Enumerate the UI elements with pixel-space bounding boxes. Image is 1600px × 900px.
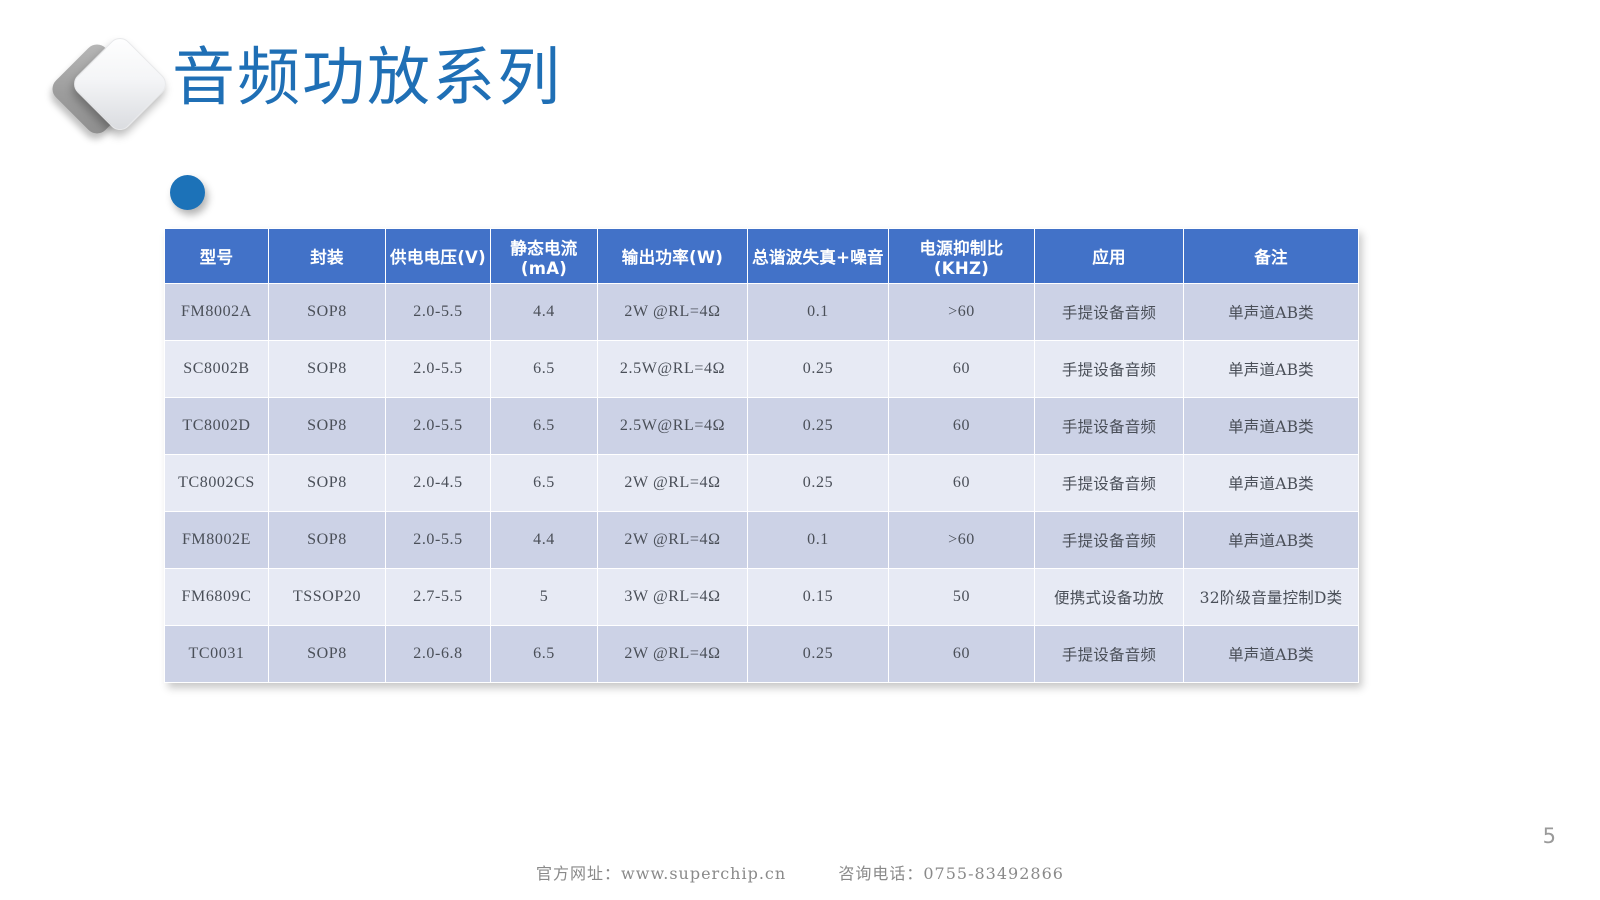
cell-output-power: 2W @RL=4Ω xyxy=(598,626,748,683)
cell-supply-voltage: 2.0-5.5 xyxy=(386,512,491,569)
column-header-supply-voltage: 供电电压(V) xyxy=(386,229,491,284)
cell-package: SOP8 xyxy=(269,284,386,341)
cell-thd-n: 0.1 xyxy=(748,284,889,341)
cell-remark: 单声道AB类 xyxy=(1184,455,1359,512)
column-header-application: 应用 xyxy=(1035,229,1184,284)
cell-package: TSSOP20 xyxy=(269,569,386,626)
cell-quiescent-current: 6.5 xyxy=(491,341,598,398)
page-title: 音频功放系列 xyxy=(172,42,562,114)
table-header-row: 型号 封装 供电电压(V) 静态电流(mA) 输出功率(W) 总谐波失真+噪音 … xyxy=(165,229,1359,284)
cell-package: SOP8 xyxy=(269,626,386,683)
cell-supply-voltage: 2.0-5.5 xyxy=(386,284,491,341)
diamond-logo-icon xyxy=(58,36,166,144)
cell-psrr: 60 xyxy=(889,398,1035,455)
cell-output-power: 2.5W@RL=4Ω xyxy=(598,341,748,398)
table-row: FM6809C TSSOP20 2.7-5.5 5 3W @RL=4Ω 0.15… xyxy=(165,569,1359,626)
cell-thd-n: 0.1 xyxy=(748,512,889,569)
page-number: 5 xyxy=(1543,824,1556,848)
cell-remark: 32阶级音量控制D类 xyxy=(1184,569,1359,626)
cell-model: TC8002CS xyxy=(165,455,269,512)
cell-application: 手提设备音频 xyxy=(1035,512,1184,569)
cell-thd-n: 0.25 xyxy=(748,626,889,683)
cell-model: TC8002D xyxy=(165,398,269,455)
cell-supply-voltage: 2.0-6.8 xyxy=(386,626,491,683)
column-header-output-power: 输出功率(W) xyxy=(598,229,748,284)
cell-psrr: 60 xyxy=(889,455,1035,512)
table-row: TC8002D SOP8 2.0-5.5 6.5 2.5W@RL=4Ω 0.25… xyxy=(165,398,1359,455)
cell-application: 手提设备音频 xyxy=(1035,455,1184,512)
cell-output-power: 2.5W@RL=4Ω xyxy=(598,398,748,455)
cell-psrr: 60 xyxy=(889,626,1035,683)
cell-output-power: 2W @RL=4Ω xyxy=(598,512,748,569)
column-header-psrr: 电源抑制比(KHZ) xyxy=(889,229,1035,284)
cell-application: 便携式设备功放 xyxy=(1035,569,1184,626)
cell-quiescent-current: 6.5 xyxy=(491,398,598,455)
cell-remark: 单声道AB类 xyxy=(1184,341,1359,398)
cell-quiescent-current: 5 xyxy=(491,569,598,626)
cell-model: FM6809C xyxy=(165,569,269,626)
footer-phone: 咨询电话：0755-83492866 xyxy=(838,864,1064,883)
cell-quiescent-current: 4.4 xyxy=(491,512,598,569)
column-header-remark: 备注 xyxy=(1184,229,1359,284)
cell-application: 手提设备音频 xyxy=(1035,284,1184,341)
cell-output-power: 2W @RL=4Ω xyxy=(598,284,748,341)
table-row: FM8002E SOP8 2.0-5.5 4.4 2W @RL=4Ω 0.1 >… xyxy=(165,512,1359,569)
cell-application: 手提设备音频 xyxy=(1035,341,1184,398)
cell-remark: 单声道AB类 xyxy=(1184,398,1359,455)
table-row: TC0031 SOP8 2.0-6.8 6.5 2W @RL=4Ω 0.25 6… xyxy=(165,626,1359,683)
column-header-model: 型号 xyxy=(165,229,269,284)
table-row: FM8002A SOP8 2.0-5.5 4.4 2W @RL=4Ω 0.1 >… xyxy=(165,284,1359,341)
cell-application: 手提设备音频 xyxy=(1035,398,1184,455)
cell-quiescent-current: 4.4 xyxy=(491,284,598,341)
cell-supply-voltage: 2.0-5.5 xyxy=(386,341,491,398)
cell-psrr: >60 xyxy=(889,512,1035,569)
spec-table-container: 型号 封装 供电电压(V) 静态电流(mA) 输出功率(W) 总谐波失真+噪音 … xyxy=(164,228,1358,683)
cell-thd-n: 0.25 xyxy=(748,398,889,455)
cell-remark: 单声道AB类 xyxy=(1184,626,1359,683)
cell-supply-voltage: 2.0-4.5 xyxy=(386,455,491,512)
cell-output-power: 3W @RL=4Ω xyxy=(598,569,748,626)
cell-quiescent-current: 6.5 xyxy=(491,626,598,683)
cell-psrr: 60 xyxy=(889,341,1035,398)
cell-application: 手提设备音频 xyxy=(1035,626,1184,683)
cell-model: FM8002E xyxy=(165,512,269,569)
table-header: 型号 封装 供电电压(V) 静态电流(mA) 输出功率(W) 总谐波失真+噪音 … xyxy=(165,229,1359,284)
cell-remark: 单声道AB类 xyxy=(1184,512,1359,569)
column-header-thd-n: 总谐波失真+噪音 xyxy=(748,229,889,284)
cell-output-power: 2W @RL=4Ω xyxy=(598,455,748,512)
column-header-package: 封装 xyxy=(269,229,386,284)
cell-model: FM8002A xyxy=(165,284,269,341)
cell-supply-voltage: 2.7-5.5 xyxy=(386,569,491,626)
cell-thd-n: 0.15 xyxy=(748,569,889,626)
cell-package: SOP8 xyxy=(269,455,386,512)
cell-remark: 单声道AB类 xyxy=(1184,284,1359,341)
cell-psrr: >60 xyxy=(889,284,1035,341)
table-row: SC8002B SOP8 2.0-5.5 6.5 2.5W@RL=4Ω 0.25… xyxy=(165,341,1359,398)
cell-package: SOP8 xyxy=(269,512,386,569)
footer-website: 官方网址：www.superchip.cn xyxy=(536,864,786,883)
cell-thd-n: 0.25 xyxy=(748,455,889,512)
bullet-dot-marker xyxy=(170,175,205,210)
cell-package: SOP8 xyxy=(269,341,386,398)
cell-model: SC8002B xyxy=(165,341,269,398)
column-header-quiescent-current: 静态电流(mA) xyxy=(491,229,598,284)
slide-root: 音频功放系列 型号 封装 供电电压(V) 静态电流(mA) 输出功率(W) 总谐… xyxy=(0,0,1600,900)
cell-package: SOP8 xyxy=(269,398,386,455)
slide-footer: 官方网址：www.superchip.cn 咨询电话：0755-83492866 xyxy=(0,860,1600,884)
table-row: TC8002CS SOP8 2.0-4.5 6.5 2W @RL=4Ω 0.25… xyxy=(165,455,1359,512)
cell-model: TC0031 xyxy=(165,626,269,683)
cell-thd-n: 0.25 xyxy=(748,341,889,398)
cell-quiescent-current: 6.5 xyxy=(491,455,598,512)
table-body: FM8002A SOP8 2.0-5.5 4.4 2W @RL=4Ω 0.1 >… xyxy=(165,284,1359,683)
spec-table: 型号 封装 供电电压(V) 静态电流(mA) 输出功率(W) 总谐波失真+噪音 … xyxy=(164,228,1359,683)
cell-supply-voltage: 2.0-5.5 xyxy=(386,398,491,455)
cell-psrr: 50 xyxy=(889,569,1035,626)
